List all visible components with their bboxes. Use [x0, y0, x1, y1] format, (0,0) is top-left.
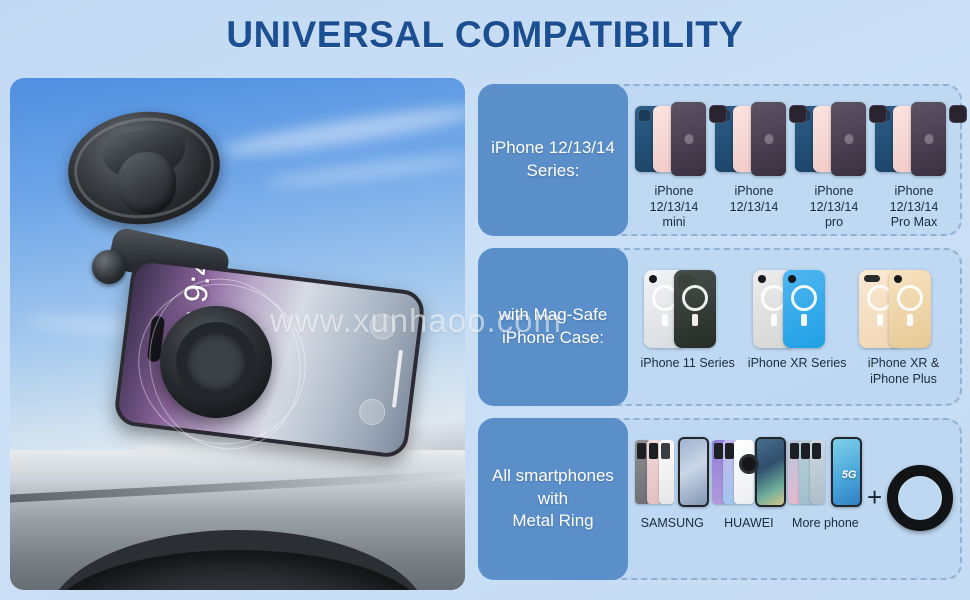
huawei-camera-ring	[739, 454, 759, 474]
page-title: UNIVERSAL COMPATIBILITY	[0, 14, 970, 56]
item-caption: iPhone 11 Series	[641, 356, 735, 372]
caption-line1: SAMSUNG	[641, 516, 704, 530]
compat-item[interactable]: iPhone XR & iPhone Plus	[859, 266, 947, 387]
compat-item[interactable]: SAMSUNG	[635, 436, 709, 532]
product-photo: 9:41	[10, 78, 465, 590]
row-label-line1: All smartphones	[492, 466, 614, 485]
row-label-line1: with Mag-Safe	[499, 305, 608, 324]
compat-item[interactable]: iPhone 12/13/14 pro	[794, 102, 874, 231]
item-caption: HUAWEI	[724, 516, 774, 532]
item-caption: iPhone 12/13/14 mini	[634, 184, 714, 231]
compat-item[interactable]: HUAWEI	[712, 436, 786, 532]
row-items: SAMSUNG HUAWEI	[628, 420, 960, 578]
item-caption: iPhone XR & iPhone Plus	[868, 356, 940, 387]
row-label-magsafe-case: with Mag-Safe iPhone Case:	[478, 248, 628, 406]
cloud-wisp	[265, 151, 465, 190]
caption-line1: iPhone XR Series	[748, 356, 847, 370]
iphone-trio-icon	[635, 102, 713, 178]
row-items: iPhone 12/13/14 mini iPhone 12/13/14	[628, 86, 960, 234]
item-caption: iPhone 12/13/14 Pro Max	[874, 184, 954, 231]
iphoneplus-duo-icon	[859, 266, 947, 350]
row-label-metal-ring: All smartphones with Metal Ring	[478, 418, 628, 580]
caption-line1: iPhone XR &	[868, 356, 940, 370]
row-items: iPhone 11 Series iPhone XR Ser	[628, 250, 960, 404]
compat-row-iphone-series: iPhone 12/13/14 Series: iPhone 12/13/14 …	[478, 84, 962, 236]
samsung-phones-icon	[635, 436, 709, 510]
compatibility-rows: iPhone 12/13/14 Series: iPhone 12/13/14 …	[478, 84, 962, 592]
row-label-line2: iPhone Case:	[502, 328, 604, 347]
row-label-iphone-series: iPhone 12/13/14 Series:	[478, 84, 628, 236]
iphone-midnight-green	[674, 270, 716, 348]
row-label-line3: Metal Ring	[512, 511, 593, 530]
universal-compatibility-poster: UNIVERSAL COMPATIBILITY 9:41 www.xunhaoo…	[0, 0, 970, 600]
item-caption: iPhone 12/13/14 pro	[794, 184, 874, 231]
iphone-purple	[751, 102, 786, 176]
galaxy-front	[678, 437, 709, 507]
iphone-purple	[911, 102, 946, 176]
iphone-purple	[671, 102, 706, 176]
compat-row-magsafe-case: with Mag-Safe iPhone Case: iPh	[478, 248, 962, 406]
item-caption: SAMSUNG	[641, 516, 704, 532]
metal-ring-icon	[887, 465, 953, 531]
row-label-line2: with	[538, 489, 568, 508]
caption-line1: iPhone 12/13/14	[730, 184, 779, 214]
compat-item[interactable]: iPhone 12/13/14 mini	[634, 102, 714, 231]
caption-line1: iPhone 11 Series	[641, 356, 735, 370]
caption-line1: HUAWEI	[724, 516, 774, 530]
caption-line2: pro	[825, 215, 843, 229]
more-phone-front: 5G	[831, 437, 862, 507]
item-caption: iPhone 12/13/14	[714, 184, 794, 215]
camera-icon	[358, 397, 387, 426]
cloud-wisp	[220, 100, 465, 162]
caption-line2: Pro Max	[891, 215, 938, 229]
caption-line1: More phone	[792, 516, 859, 530]
more-phone-3	[810, 440, 825, 504]
home-indicator	[392, 350, 403, 408]
caption-line1: iPhone 12/13/14	[890, 184, 939, 214]
iphone11-duo-icon	[644, 266, 732, 350]
compat-item[interactable]: iPhone 12/13/14 Pro Max	[874, 102, 954, 231]
caption-line1: iPhone 12/13/14	[650, 184, 699, 214]
iphone-gold-2	[889, 270, 931, 348]
badge-5g: 5G	[842, 469, 857, 481]
caption-line2: mini	[663, 215, 686, 229]
iphonexr-duo-icon	[753, 266, 841, 350]
row-label-line1: iPhone 12/13/14	[491, 138, 615, 157]
compat-row-metal-ring: All smartphones with Metal Ring SAMSUNG	[478, 418, 962, 580]
caption-line1: iPhone 12/13/14	[810, 184, 859, 214]
huawei-phones-icon	[712, 436, 786, 510]
flashlight-icon	[368, 312, 397, 341]
more-phones-icon: 5G	[788, 436, 862, 510]
compat-item[interactable]: 5G More phone	[788, 436, 862, 532]
iphone-blue	[783, 270, 825, 348]
iphone-purple	[831, 102, 866, 176]
compat-item[interactable]: iPhone XR Series	[748, 266, 847, 372]
galaxy-white	[659, 440, 674, 504]
item-caption: iPhone XR Series	[748, 356, 847, 372]
huawei-front	[755, 437, 786, 507]
row-label-line2: Series:	[527, 161, 580, 180]
plus-icon: +	[867, 482, 882, 533]
ball-joint	[118, 152, 176, 214]
adjust-knob	[92, 250, 126, 284]
caption-line2: iPhone Plus	[870, 372, 937, 386]
compat-item[interactable]: iPhone 11 Series	[641, 266, 735, 372]
item-caption: More phone	[792, 516, 859, 532]
